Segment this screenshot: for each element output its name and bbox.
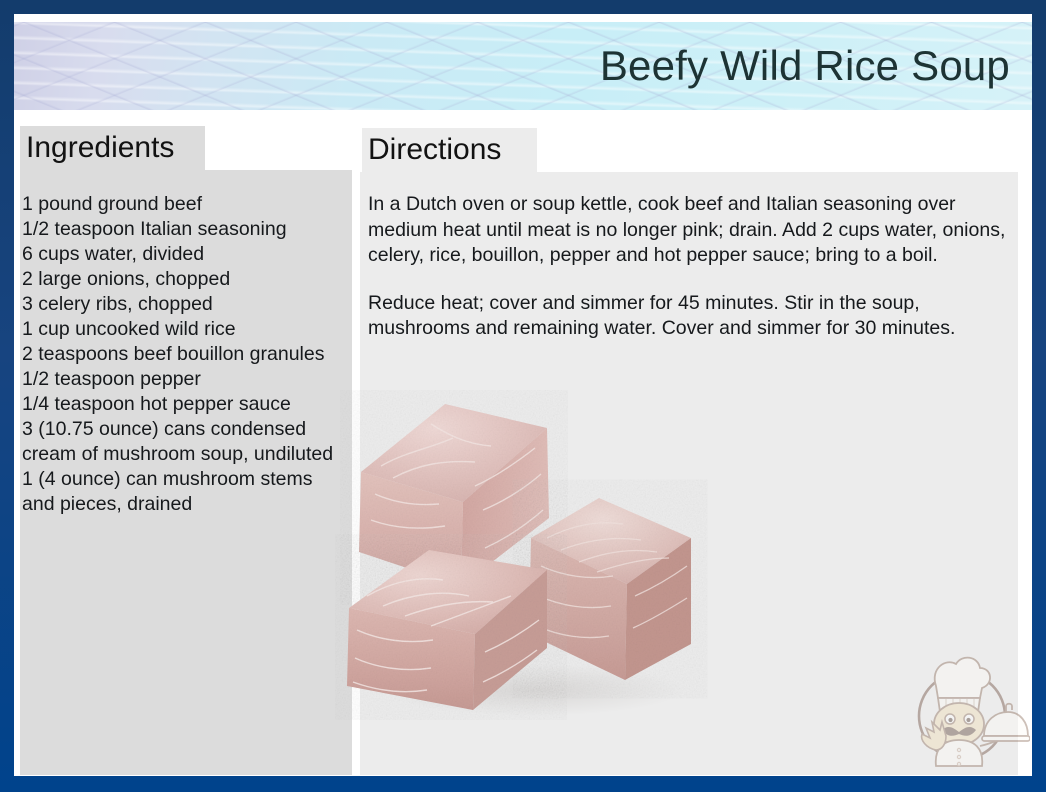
list-item: 1/4 teaspoon hot pepper sauce bbox=[22, 392, 342, 417]
list-item: 2 large onions, chopped bbox=[22, 267, 342, 292]
list-item: 2 teaspoons beef bouillon granules bbox=[22, 342, 342, 367]
ingredients-heading: Ingredients bbox=[20, 126, 205, 170]
recipe-card: Beefy Wild Rice Soup Ingredients 1 pound… bbox=[0, 0, 1046, 792]
list-item: 1/2 teaspoon pepper bbox=[22, 367, 342, 392]
directions-heading: Directions bbox=[362, 128, 537, 172]
ingredients-list: 1 pound ground beef 1/2 teaspoon Italian… bbox=[22, 192, 342, 517]
list-item: 1/2 teaspoon Italian seasoning bbox=[22, 217, 342, 242]
page-title: Beefy Wild Rice Soup bbox=[600, 45, 1010, 87]
directions-panel: In a Dutch oven or soup kettle, cook bee… bbox=[360, 172, 1018, 775]
list-item: 1 pound ground beef bbox=[22, 192, 342, 217]
direction-paragraph: In a Dutch oven or soup kettle, cook bee… bbox=[368, 192, 1012, 269]
title-banner: Beefy Wild Rice Soup bbox=[14, 22, 1032, 110]
list-item: 3 celery ribs, chopped bbox=[22, 292, 342, 317]
list-item: 3 (10.75 ounce) cans condensed cream of … bbox=[22, 417, 342, 467]
list-item: 1 (4 ounce) can mushroom stems and piece… bbox=[22, 467, 342, 517]
direction-paragraph: Reduce heat; cover and simmer for 45 min… bbox=[368, 291, 1012, 342]
list-item: 1 cup uncooked wild rice bbox=[22, 317, 342, 342]
list-item: 6 cups water, divided bbox=[22, 242, 342, 267]
ingredients-panel: 1 pound ground beef 1/2 teaspoon Italian… bbox=[20, 170, 352, 775]
